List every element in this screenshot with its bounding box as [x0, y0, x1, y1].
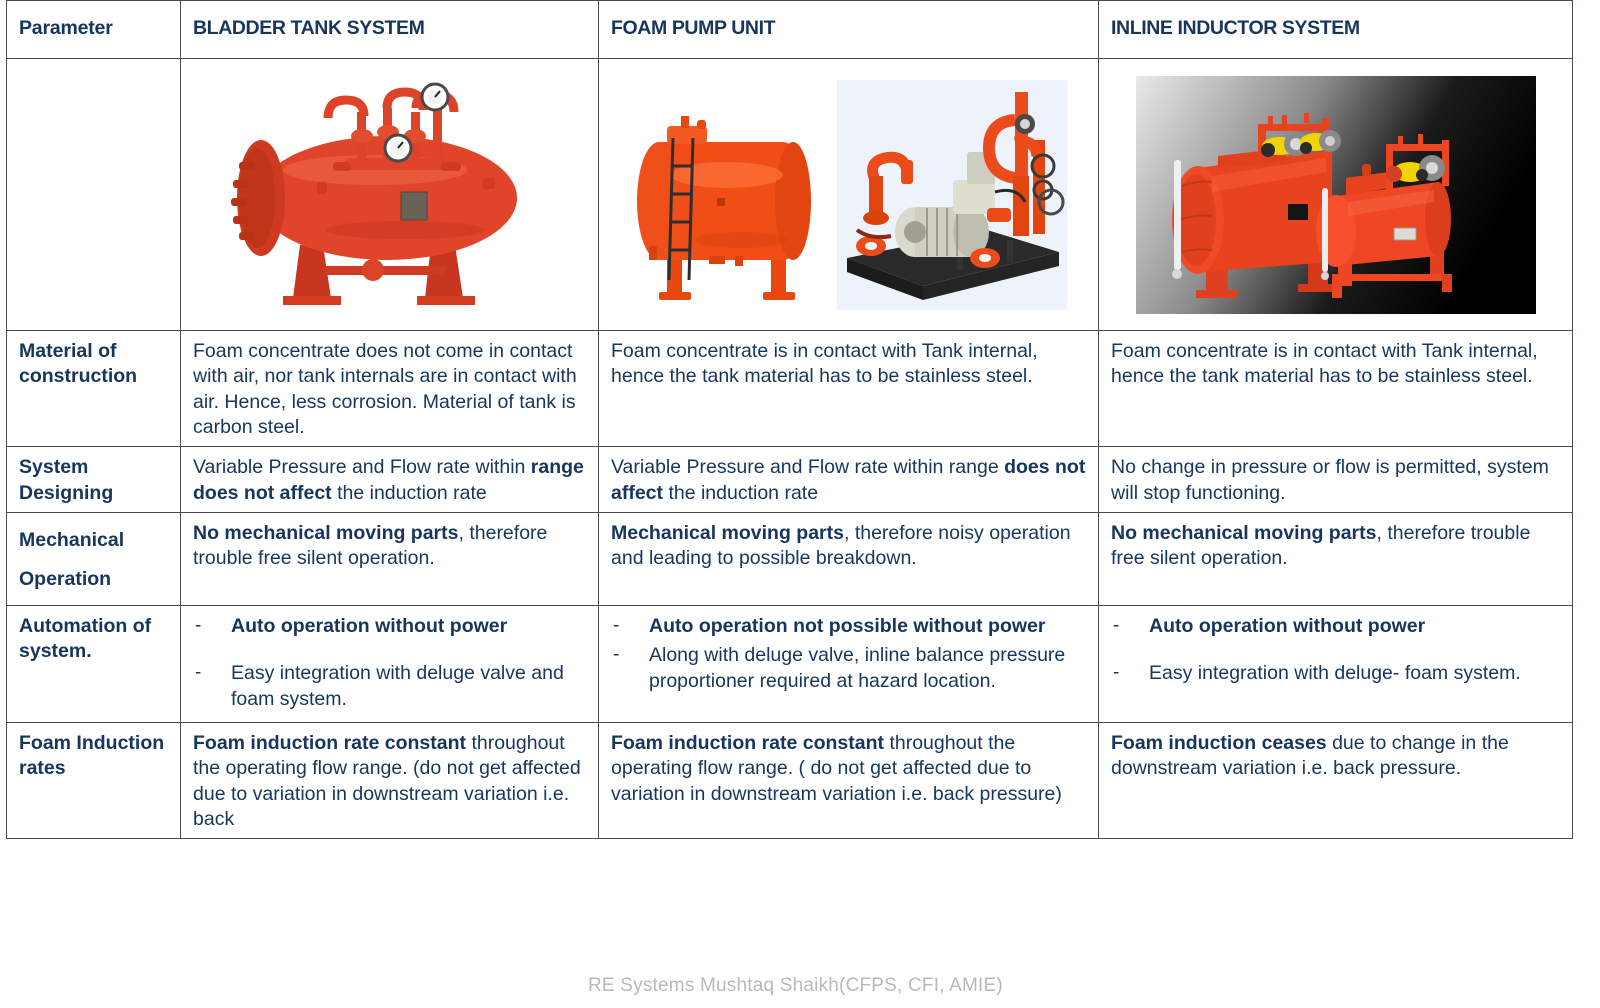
cell-material-pump: Foam concentrate is in contact with Tank…	[599, 331, 1099, 447]
text-pre: Variable Pressure and Flow rate within r…	[611, 456, 1004, 478]
inline-inductor-illustration	[1136, 76, 1536, 314]
comparison-table-page: Parameter BLADDER TANK SYSTEM FOAM PUMP …	[0, 0, 1600, 1008]
list-item: - Auto operation without power	[193, 614, 588, 639]
image-cell-foam-pump-unit	[599, 59, 1099, 331]
cell-automation-pump: - Auto operation not possible without po…	[599, 606, 1099, 723]
text-bold: Foam induction rate constant	[193, 732, 466, 754]
foam-pump-skid-illustration	[837, 80, 1067, 310]
page-watermark: RE Systems Mushtaq Shaikh(CFPS, CFI, AMI…	[588, 975, 1003, 997]
image-row-parameter-cell	[7, 59, 181, 331]
header-cell-foam-pump-unit: FOAM PUMP UNIT	[599, 1, 1099, 59]
table-row-automation-of-system: Automation of system. - Auto operation w…	[7, 606, 1573, 723]
inline-inductor-photo	[1107, 66, 1564, 324]
cell-material-inductor: Foam concentrate is in contact with Tank…	[1099, 331, 1573, 447]
dash-icon: -	[613, 614, 619, 639]
bladder-tank-photo	[189, 66, 590, 324]
list-item: - Auto operation not possible without po…	[611, 614, 1088, 639]
text-bold: Foam induction rate constant	[611, 732, 884, 754]
param-line-2: Operation	[19, 560, 170, 599]
bullet-list-bladder: - Auto operation without power - Easy in…	[193, 614, 588, 712]
cell-induction-bladder: Foam induction rate constant throughout …	[181, 723, 599, 839]
cell-automation-inductor: - Auto operation without power - Easy in…	[1099, 606, 1573, 723]
cell-automation-bladder: - Auto operation without power - Easy in…	[181, 606, 599, 723]
param-label-system-designing: System Designing	[7, 447, 181, 513]
foam-pump-photo-group	[607, 66, 1090, 324]
cell-induction-pump: Foam induction rate constant throughout …	[599, 723, 1099, 839]
list-item: - Along with deluge valve, inline balanc…	[611, 643, 1088, 694]
dash-icon: -	[195, 661, 201, 686]
bullet-list-pump: - Auto operation not possible without po…	[611, 614, 1088, 694]
item-text: Easy integration with deluge valve and f…	[231, 662, 564, 709]
table-header-row: Parameter BLADDER TANK SYSTEM FOAM PUMP …	[7, 1, 1573, 59]
item-bold: Auto operation without power	[231, 615, 507, 637]
foam-system-comparison-table: Parameter BLADDER TANK SYSTEM FOAM PUMP …	[6, 0, 1573, 839]
table-row-mechanical-operation: Mechanical Operation No mechanical movin…	[7, 513, 1573, 606]
cell-induction-inductor: Foam induction ceases due to change in t…	[1099, 723, 1573, 839]
dash-icon: -	[1113, 661, 1119, 686]
param-label-material-of-construction: Material of construction	[7, 331, 181, 447]
list-item: - Auto operation without power	[1111, 614, 1562, 639]
dash-icon: -	[195, 614, 201, 639]
table-row-material-of-construction: Material of construction Foam concentrat…	[7, 331, 1573, 447]
table-row-system-designing: System Designing Variable Pressure and F…	[7, 447, 1573, 513]
cell-mechanical-bladder: No mechanical moving parts, therefore tr…	[181, 513, 599, 606]
list-item: - Easy integration with deluge valve and…	[193, 661, 588, 712]
item-bold: Auto operation without power	[1149, 615, 1425, 637]
cell-mechanical-pump: Mechanical moving parts, therefore noisy…	[599, 513, 1099, 606]
bladder-tank-illustration	[205, 70, 575, 320]
cell-designing-inductor: No change in pressure or flow is permitt…	[1099, 447, 1573, 513]
cell-mechanical-inductor: No mechanical moving parts, therefore tr…	[1099, 513, 1573, 606]
item-text: Easy integration with deluge- foam syste…	[1149, 662, 1521, 684]
param-line-1: Mechanical	[19, 521, 170, 560]
list-item: - Easy integration with deluge- foam sys…	[1111, 661, 1562, 686]
cell-designing-pump: Variable Pressure and Flow rate within r…	[599, 447, 1099, 513]
dash-icon: -	[613, 643, 619, 668]
header-cell-bladder-tank-system: BLADDER TANK SYSTEM	[181, 1, 599, 59]
table-image-row	[7, 59, 1573, 331]
header-cell-inline-inductor-system: INLINE INDUCTOR SYSTEM	[1099, 1, 1573, 59]
text-post: the induction rate	[332, 482, 487, 504]
text-bold: No mechanical moving parts	[1111, 522, 1377, 544]
text-bold: Mechanical moving parts	[611, 522, 844, 544]
text-pre: Variable Pressure and Flow rate within	[193, 456, 531, 478]
text-bold: Foam induction ceases	[1111, 732, 1327, 754]
param-label-automation-of-system: Automation of system.	[7, 606, 181, 723]
text-bold: No mechanical moving parts	[193, 522, 459, 544]
dash-icon: -	[1113, 614, 1119, 639]
header-cell-parameter: Parameter	[7, 1, 181, 59]
param-label-mechanical-operation: Mechanical Operation	[7, 513, 181, 606]
text-post: the induction rate	[663, 482, 818, 504]
image-cell-inline-inductor	[1099, 59, 1573, 331]
item-text: Along with deluge valve, inline balance …	[649, 644, 1065, 691]
item-bold: Auto operation not possible without powe…	[649, 615, 1045, 637]
cell-material-bladder: Foam concentrate does not come in contac…	[181, 331, 599, 447]
foam-tank-illustration	[631, 80, 831, 310]
table-row-foam-induction-rates: Foam Induction rates Foam induction rate…	[7, 723, 1573, 839]
param-label-foam-induction-rates: Foam Induction rates	[7, 723, 181, 839]
image-cell-bladder-tank	[181, 59, 599, 331]
cell-designing-bladder: Variable Pressure and Flow rate within r…	[181, 447, 599, 513]
bullet-list-inductor: - Auto operation without power - Easy in…	[1111, 614, 1562, 687]
